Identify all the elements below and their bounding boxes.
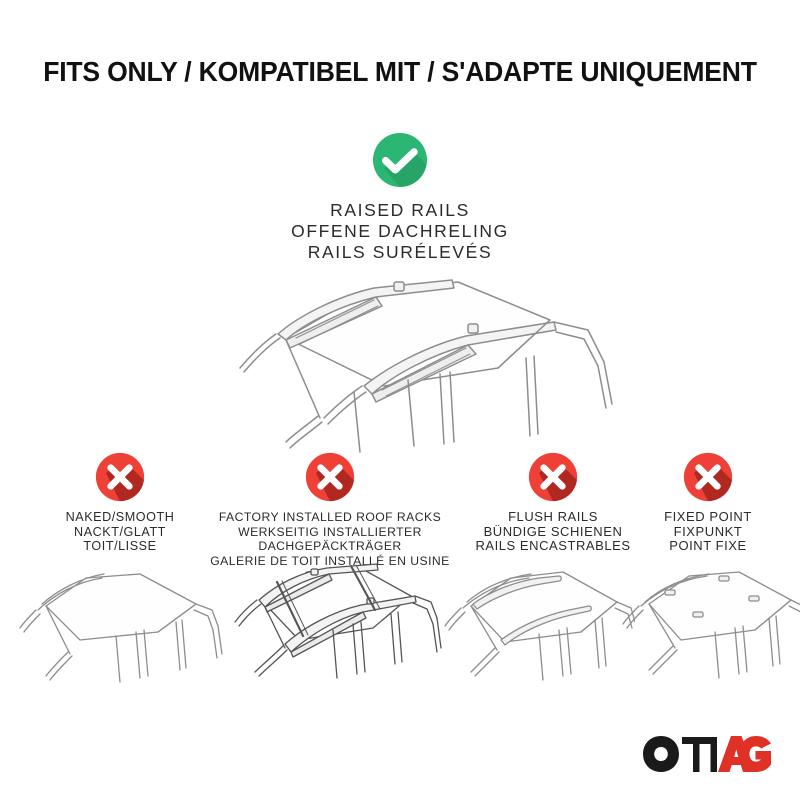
incompatible-item-fixed-point: FIXED POINT FIXPUNKT POINT FIXE [628,452,788,554]
compatible-label-fr: RAILS SURÉLEVÉS [0,242,800,263]
logo-letter-m [682,737,717,772]
x-circle-icon [683,452,733,502]
car-roof-with-factory-crossbars-illustration [215,552,445,702]
compatible-labels: RAISED RAILS OFFENE DACHRELING RAILS SUR… [0,200,800,263]
incompatible-labels: FLUSH RAILS BÜNDIGE SCHIENEN RAILS ENCAS… [453,510,653,554]
incompatible-label-de: FIXPUNKT [628,525,788,540]
compatible-section: RAISED RAILS OFFENE DACHRELING RAILS SUR… [0,132,800,263]
incompatible-label-de: NACKT/GLATT [20,525,220,540]
car-roof-with-raised-rails-illustration [168,276,638,456]
incompatible-label-en: NAKED/SMOOTH [20,510,220,525]
omac-logo [642,734,772,774]
incompatible-label-fr: RAILS ENCASTRABLES [453,539,653,554]
incompatible-label-fr: POINT FIXE [628,539,788,554]
logo-letter-c [739,736,771,772]
incompatible-item-factory-roof-racks: FACTORY INSTALLED ROOF RACKS WERKSEITIG … [205,452,455,568]
incompatible-label-fr: TOIT/LISSE [20,539,220,554]
x-circle-icon [528,452,578,502]
compatible-label-en: RAISED RAILS [0,200,800,221]
x-circle-icon [305,452,355,502]
car-roof-with-flush-rails-illustration [435,558,635,698]
incompatible-labels: NAKED/SMOOTH NACKT/GLATT TOIT/LISSE [20,510,220,554]
car-roof-naked-smooth-illustration [8,560,223,700]
incompatible-label-de: BÜNDIGE SCHIENEN [453,525,653,540]
incompatible-labels: FIXED POINT FIXPUNKT POINT FIXE [628,510,788,554]
logo-letter-o [643,736,679,772]
incompatible-label-en: FLUSH RAILS [453,510,653,525]
x-circle-icon [95,452,145,502]
compatible-label-de: OFFENE DACHRELING [0,221,800,242]
car-roof-with-fixed-points-illustration [615,558,800,698]
page-title: FITS ONLY / KOMPATIBEL MIT / S'ADAPTE UN… [14,56,786,88]
incompatible-item-flush-rails: FLUSH RAILS BÜNDIGE SCHIENEN RAILS ENCAS… [453,452,653,554]
incompatible-item-naked-smooth: NAKED/SMOOTH NACKT/GLATT TOIT/LISSE [20,452,220,554]
incompatible-label-de-1: WERKSEITIG INSTALLIERTER [205,525,455,540]
check-circle-icon [372,132,428,188]
incompatible-label-en: FIXED POINT [628,510,788,525]
incompatible-label-en: FACTORY INSTALLED ROOF RACKS [205,510,455,525]
